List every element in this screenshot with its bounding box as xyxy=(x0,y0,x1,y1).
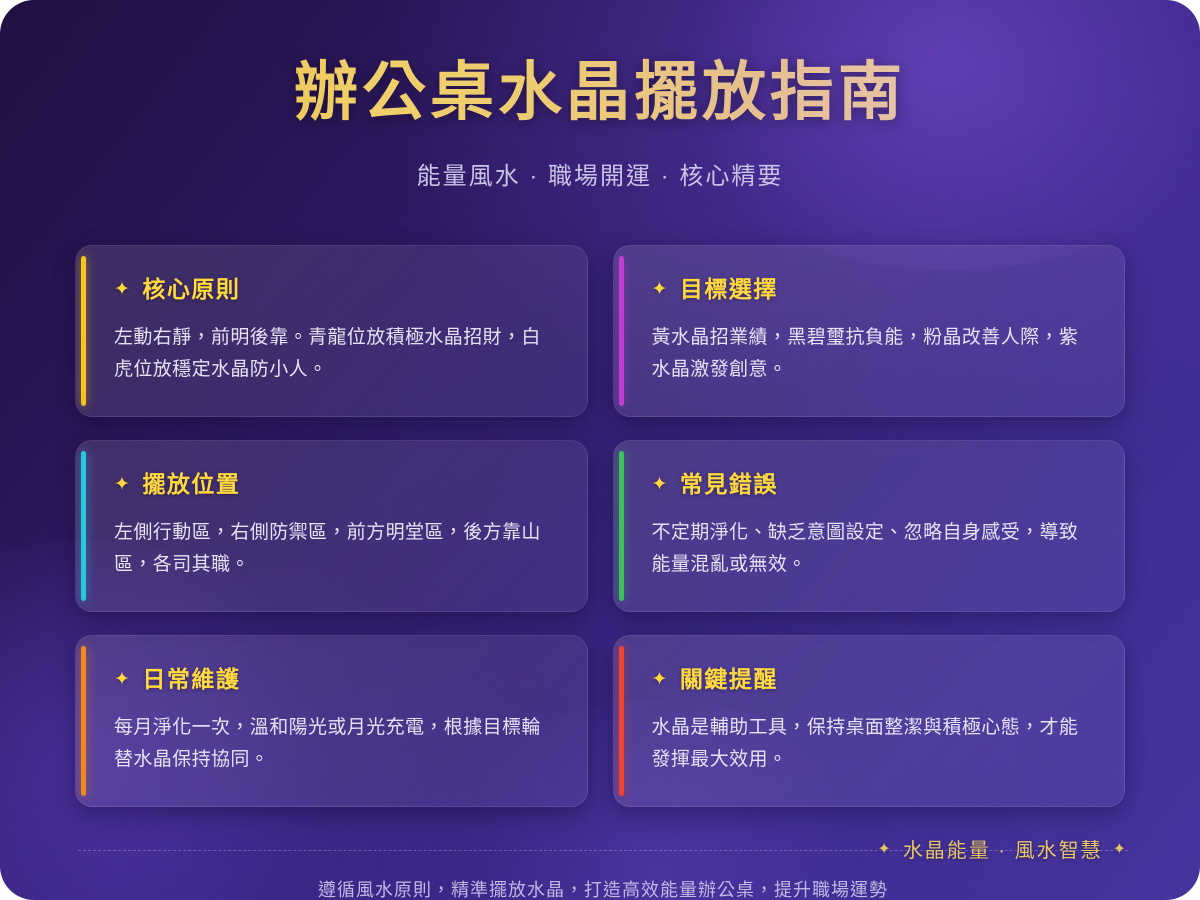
page-title: 辦公桌水晶擺放指南 xyxy=(0,56,1200,130)
footer-badge: ✦ 水晶能量 · 風水智慧 ✦ xyxy=(877,834,1128,863)
card-heading-row: ✦ 關鍵提醒 xyxy=(652,668,1095,691)
poster-footer: ✦ 水晶能量 · 風水智慧 ✦ 遵循風水原則，精準擺放水晶，打造高效能量辦公桌，… xyxy=(78,832,1128,900)
card-accent-bar xyxy=(619,256,624,406)
card-heading-row: ✦ 擺放位置 xyxy=(114,473,557,496)
sparkle-icon: ✦ xyxy=(114,280,131,299)
card-heading: 日常維護 xyxy=(142,668,240,691)
card-body-text: 不定期淨化、缺乏意圖設定、忽略自身感受，導致能量混亂或無效。 xyxy=(652,517,1095,582)
card-daily-maintenance[interactable]: ✦ 日常維護 每月淨化一次，溫和陽光或月光充電，根據目標輪替水晶保持協同。 xyxy=(75,635,588,807)
card-grid: ✦ 核心原則 左動右靜，前明後靠。青龍位放積極水晶招財，白虎位放穩定水晶防小人。… xyxy=(75,245,1125,807)
card-body-text: 每月淨化一次，溫和陽光或月光充電，根據目標輪替水晶保持協同。 xyxy=(114,712,557,777)
card-goal-selection[interactable]: ✦ 目標選擇 黃水晶招業績，黑碧璽抗負能，粉晶改善人際，紫水晶激發創意。 xyxy=(613,245,1126,417)
card-core-principles[interactable]: ✦ 核心原則 左動右靜，前明後靠。青龍位放積極水晶招財，白虎位放穩定水晶防小人。 xyxy=(75,245,588,417)
footer-note: 遵循風水原則，精準擺放水晶，打造高效能量辦公桌，提升職場運勢 xyxy=(78,876,1128,900)
card-key-reminder[interactable]: ✦ 關鍵提醒 水晶是輔助工具，保持桌面整潔與積極心態，才能發揮最大效用。 xyxy=(613,635,1126,807)
card-heading-row: ✦ 目標選擇 xyxy=(652,278,1095,301)
card-heading: 常見錯誤 xyxy=(680,473,778,496)
page-subtitle: 能量風水 · 職場開運 · 核心精要 xyxy=(0,156,1200,191)
sparkle-icon: ✦ xyxy=(652,670,669,689)
card-body-text: 水晶是輔助工具，保持桌面整潔與積極心態，才能發揮最大效用。 xyxy=(652,712,1095,777)
sparkle-icon: ✦ xyxy=(652,280,669,299)
card-accent-bar xyxy=(81,256,86,406)
card-body-text: 左側行動區，右側防禦區，前方明堂區，後方靠山區，各司其職。 xyxy=(114,517,557,582)
card-heading: 目標選擇 xyxy=(680,278,778,301)
card-accent-bar xyxy=(619,646,624,796)
sparkle-icon-left: ✦ xyxy=(877,839,892,859)
sparkle-icon: ✦ xyxy=(114,475,131,494)
card-heading: 擺放位置 xyxy=(142,473,240,496)
card-accent-bar xyxy=(81,646,86,796)
poster-canvas: 辦公桌水晶擺放指南 能量風水 · 職場開運 · 核心精要 ✦ 核心原則 左動右靜… xyxy=(0,0,1200,900)
sparkle-icon-right: ✦ xyxy=(1113,839,1128,859)
card-body-text: 左動右靜，前明後靠。青龍位放積極水晶招財，白虎位放穩定水晶防小人。 xyxy=(114,322,557,387)
card-body-text: 黃水晶招業績，黑碧璽抗負能，粉晶改善人際，紫水晶激發創意。 xyxy=(652,322,1095,387)
card-heading-row: ✦ 日常維護 xyxy=(114,668,557,691)
card-heading-row: ✦ 核心原則 xyxy=(114,278,557,301)
sparkle-icon: ✦ xyxy=(114,670,131,689)
card-accent-bar xyxy=(81,451,86,601)
sparkle-icon: ✦ xyxy=(652,475,669,494)
poster-header: 辦公桌水晶擺放指南 能量風水 · 職場開運 · 核心精要 xyxy=(0,0,1200,191)
card-heading: 關鍵提醒 xyxy=(680,668,778,691)
card-heading: 核心原則 xyxy=(142,278,240,301)
card-heading-row: ✦ 常見錯誤 xyxy=(652,473,1095,496)
card-common-mistakes[interactable]: ✦ 常見錯誤 不定期淨化、缺乏意圖設定、忽略自身感受，導致能量混亂或無效。 xyxy=(613,440,1126,612)
footer-badge-text: 水晶能量 · 風水智慧 xyxy=(903,834,1103,863)
card-placement-position[interactable]: ✦ 擺放位置 左側行動區，右側防禦區，前方明堂區，後方靠山區，各司其職。 xyxy=(75,440,588,612)
card-accent-bar xyxy=(619,451,624,601)
